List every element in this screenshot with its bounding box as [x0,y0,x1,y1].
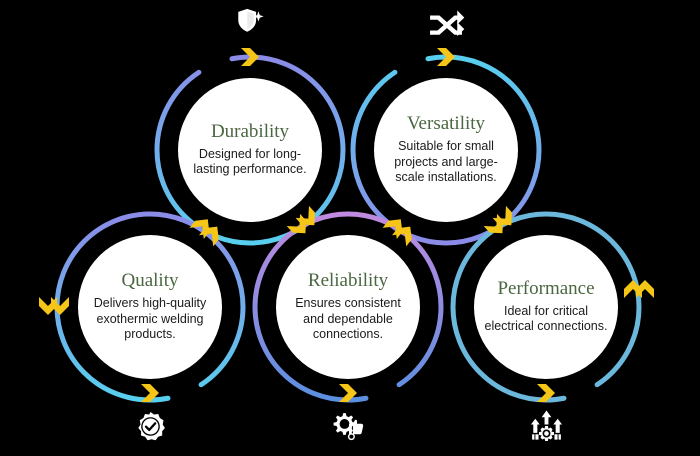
quality-badge-icon [134,410,166,442]
infographic-canvas: Durability Designed for long-lasting per… [0,0,700,456]
node-performance[interactable]: Performance Ideal for critical electrica… [474,235,618,379]
arrow-quality-left [39,297,69,315]
rocket-gear-icon [528,408,564,444]
gear-thumbsup-icon [331,410,365,442]
shield-sparkle-icon [233,5,267,39]
node-title-quality: Quality [122,271,179,291]
node-description-quality: Delivers high-quality exothermic welding… [78,296,222,343]
node-versatility[interactable]: Versatility Suitable for small projects … [374,78,518,222]
cycle-rings-layer [0,0,700,456]
node-description-performance: Ideal for critical electrical connection… [474,304,618,335]
node-title-durability: Durability [211,122,289,142]
shuffle-icon [427,7,465,39]
node-quality[interactable]: Quality Delivers high-quality exothermic… [78,235,222,379]
node-description-versatility: Suitable for small projects and large-sc… [374,139,518,186]
node-title-reliability: Reliability [308,271,388,291]
node-durability[interactable]: Durability Designed for long-lasting per… [178,78,322,222]
node-title-versatility: Versatility [407,114,485,134]
node-description-reliability: Ensures consistent and dependable connec… [276,296,420,343]
node-title-performance: Performance [497,279,594,299]
node-reliability[interactable]: Reliability Ensures consistent and depen… [276,235,420,379]
node-description-durability: Designed for long-lasting performance. [178,147,322,178]
